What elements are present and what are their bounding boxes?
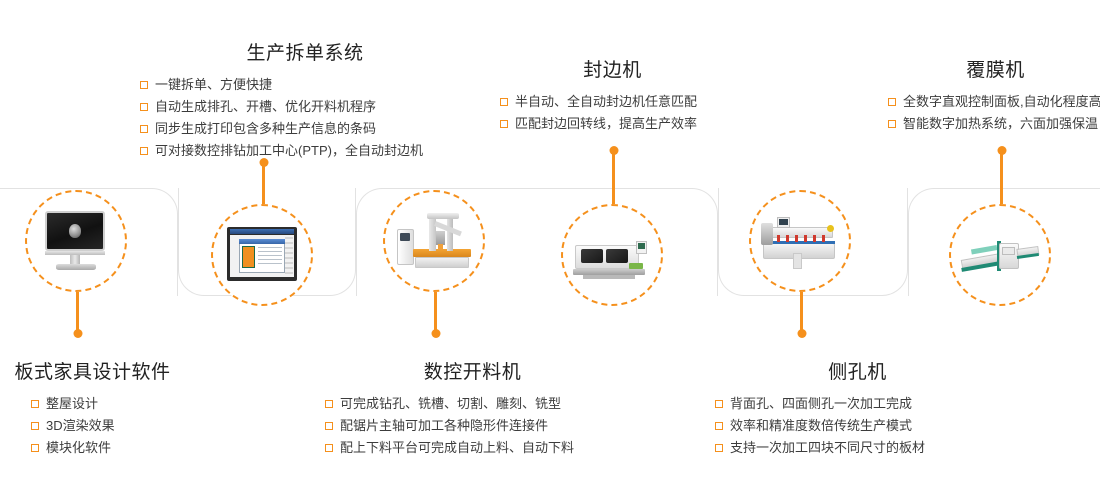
checkbox-icon <box>140 125 148 133</box>
feature-text: 模块化软件 <box>46 437 111 459</box>
imac-monitor-art <box>37 209 115 273</box>
feature-text: 支持一次加工四块不同尺寸的板材 <box>730 437 925 459</box>
checkbox-icon <box>325 400 333 408</box>
feature-text: 智能数字加热系统，六面加强保温 <box>903 113 1098 135</box>
block-title: 板式家具设计软件 <box>5 357 180 384</box>
checkbox-icon <box>31 422 39 430</box>
block-title: 封边机 <box>500 55 725 82</box>
stem-knob <box>609 146 618 155</box>
feature-item: 效率和精准度数倍传统生产模式 <box>715 415 1000 437</box>
checkbox-icon <box>325 444 333 452</box>
stem-knob <box>431 329 440 338</box>
block-title: 生产拆单系统 <box>140 38 470 65</box>
feature-text: 背面孔、四面侧孔一次加工完成 <box>730 393 912 415</box>
feature-text: 全数字直观控制面板,自动化程度高 <box>903 91 1100 113</box>
node-cnc-cutting-machine[interactable] <box>383 190 485 292</box>
stem-cnc-cutting-machine <box>434 292 437 334</box>
software-screen-art <box>223 223 301 287</box>
feature-item: 可完成钻孔、铣槽、切割、雕刻、铣型 <box>325 393 620 415</box>
stem-knob <box>73 329 82 338</box>
feature-item: 可对接数控排钻加工中心(PTP)，全自动封边机 <box>140 140 470 162</box>
stem-design-software <box>76 292 79 334</box>
feature-item: 配上下料平台可完成自动上料、自动下料 <box>325 437 620 459</box>
feature-item: 模块化软件 <box>31 437 180 459</box>
checkbox-icon <box>888 98 896 106</box>
feature-item: 3D渲染效果 <box>31 415 180 437</box>
node-design-software[interactable] <box>25 190 127 292</box>
block-cnc-cutting-machine: 数控开料机 可完成钻孔、铣槽、切割、雕刻、铣型 配锯片主轴可加工各种隐形件连接件… <box>325 357 620 459</box>
node-split-order-system[interactable] <box>211 204 313 306</box>
feature-item: 同步生成打印包含多种生产信息的条码 <box>140 118 470 140</box>
block-laminating-machine: 覆膜机 全数字直观控制面板,自动化程度高 智能数字加热系统，六面加强保温 <box>888 55 1100 135</box>
feature-item: 背面孔、四面侧孔一次加工完成 <box>715 393 1000 415</box>
checkbox-icon <box>31 400 39 408</box>
checkbox-icon <box>715 444 723 452</box>
checkbox-icon <box>140 103 148 111</box>
stem-edge-banding-machine <box>612 150 615 204</box>
stem-side-hole-machine <box>800 292 803 334</box>
feature-text: 配上下料平台可完成自动上料、自动下料 <box>340 437 574 459</box>
block-split-order-system: 生产拆单系统 一键拆单、方便快捷 自动生成排孔、开槽、优化开料机程序 同步生成打… <box>140 38 470 162</box>
stem-laminating-machine <box>1000 150 1003 204</box>
laminating-art <box>961 223 1039 287</box>
block-edge-banding-machine: 封边机 半自动、全自动封边机任意匹配 匹配封边回转线，提高生产效率 <box>500 55 725 135</box>
feature-text: 配锯片主轴可加工各种隐形件连接件 <box>340 415 548 437</box>
checkbox-icon <box>715 422 723 430</box>
edge-banding-art <box>573 223 651 287</box>
feature-text: 整屋设计 <box>46 393 98 415</box>
feature-text: 同步生成打印包含多种生产信息的条码 <box>155 118 376 140</box>
feature-text: 半自动、全自动封边机任意匹配 <box>515 91 697 113</box>
checkbox-icon <box>140 81 148 89</box>
checkbox-icon <box>888 120 896 128</box>
stem-knob <box>997 146 1006 155</box>
feature-item: 配锯片主轴可加工各种隐形件连接件 <box>325 415 620 437</box>
side-drilling-art <box>761 209 839 273</box>
block-title: 覆膜机 <box>888 55 1100 82</box>
feature-text: 匹配封边回转线，提高生产效率 <box>515 113 697 135</box>
feature-item: 自动生成排孔、开槽、优化开料机程序 <box>140 96 470 118</box>
block-title: 侧孔机 <box>715 357 1000 384</box>
stem-knob <box>797 329 806 338</box>
feature-text: 可对接数控排钻加工中心(PTP)，全自动封边机 <box>155 140 423 162</box>
feature-text: 3D渲染效果 <box>46 415 115 437</box>
checkbox-icon <box>140 147 148 155</box>
feature-item: 半自动、全自动封边机任意匹配 <box>500 91 725 113</box>
block-title: 数控开料机 <box>325 357 620 384</box>
block-side-hole-machine: 侧孔机 背面孔、四面侧孔一次加工完成 效率和精准度数倍传统生产模式 支持一次加工… <box>715 357 1000 459</box>
feature-text: 自动生成排孔、开槽、优化开料机程序 <box>155 96 376 118</box>
cnc-router-art <box>395 209 473 273</box>
feature-item: 智能数字加热系统，六面加强保温 <box>888 113 1100 135</box>
feature-item: 匹配封边回转线，提高生产效率 <box>500 113 725 135</box>
stem-split-order-system <box>262 162 265 204</box>
feature-text: 效率和精准度数倍传统生产模式 <box>730 415 912 437</box>
feature-text: 可完成钻孔、铣槽、切割、雕刻、铣型 <box>340 393 561 415</box>
feature-item: 支持一次加工四块不同尺寸的板材 <box>715 437 1000 459</box>
checkbox-icon <box>31 444 39 452</box>
node-side-hole-machine[interactable] <box>749 190 851 292</box>
feature-item: 整屋设计 <box>31 393 180 415</box>
block-design-software: 板式家具设计软件 整屋设计 3D渲染效果 模块化软件 <box>5 357 180 459</box>
feature-item: 一键拆单、方便快捷 <box>140 74 470 96</box>
checkbox-icon <box>325 422 333 430</box>
node-laminating-machine[interactable] <box>949 204 1051 306</box>
node-edge-banding-machine[interactable] <box>561 204 663 306</box>
feature-item: 全数字直观控制面板,自动化程度高 <box>888 91 1100 113</box>
infographic-canvas: 生产拆单系统 一键拆单、方便快捷 自动生成排孔、开槽、优化开料机程序 同步生成打… <box>0 0 1100 495</box>
checkbox-icon <box>715 400 723 408</box>
feature-text: 一键拆单、方便快捷 <box>155 74 272 96</box>
checkbox-icon <box>500 120 508 128</box>
checkbox-icon <box>500 98 508 106</box>
